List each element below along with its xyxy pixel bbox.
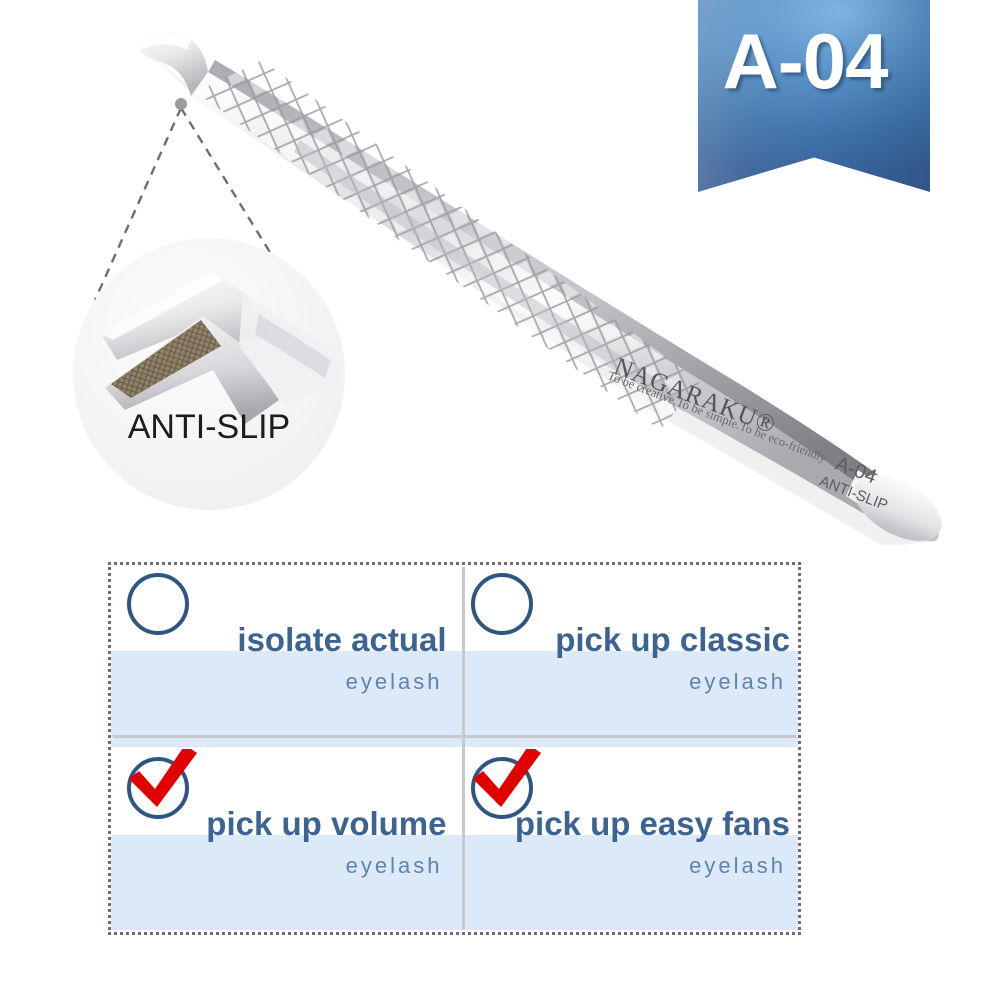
feature-title: pick up classic xyxy=(555,621,790,659)
feature-subtitle: eyelash xyxy=(689,853,786,879)
feature-title: isolate actual xyxy=(237,621,446,659)
grid-vertical-divider xyxy=(462,567,465,930)
circle-empty-icon xyxy=(127,573,189,635)
tip-detail-svg xyxy=(73,238,345,510)
feature-title: pick up volume xyxy=(206,805,446,843)
cell-band xyxy=(111,835,455,930)
feature-subtitle: eyelash xyxy=(346,853,443,879)
circle-empty-icon xyxy=(471,573,533,635)
cell-band xyxy=(455,835,799,930)
callout-anchor-dot xyxy=(175,98,187,110)
banner-model-code: A-04 xyxy=(698,22,912,100)
feature-title: pick up easy fans xyxy=(515,805,790,843)
grid-horizontal-divider xyxy=(113,735,796,738)
feature-cell-pick-up-volume: pick up volume eyelash xyxy=(111,749,455,933)
model-banner: A-04 xyxy=(698,0,930,192)
cell-band xyxy=(455,651,799,746)
feature-cell-pick-up-classic: pick up classic eyelash xyxy=(455,565,799,749)
feature-cell-isolate-actual: isolate actual eyelash xyxy=(111,565,455,749)
feature-comparison-grid: isolate actual eyelash pick up classic e… xyxy=(108,562,801,935)
check-glyph xyxy=(123,749,201,819)
feature-subtitle: eyelash xyxy=(346,669,443,695)
feature-subtitle: eyelash xyxy=(689,669,786,695)
cell-band xyxy=(111,651,455,746)
tweezer-second-arm xyxy=(294,140,690,412)
feature-cell-pick-up-easy-fans: pick up easy fans eyelash xyxy=(455,749,799,933)
check-mark-icon xyxy=(127,757,189,819)
tip-detail-magnifier: ANTI-SLIP xyxy=(73,238,345,510)
anti-slip-label: ANTI-SLIP xyxy=(73,408,345,447)
